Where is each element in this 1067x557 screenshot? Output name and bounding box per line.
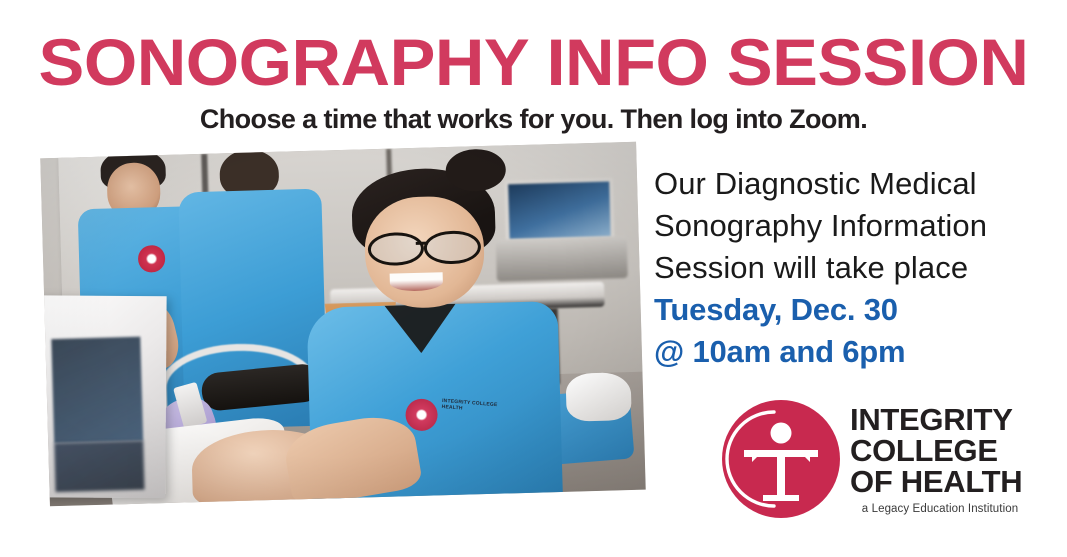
logo-wordmark: INTEGRITY COLLEGE OF HEALTH a Legacy Edu…	[850, 404, 1030, 516]
subtitle: Choose a time that works for you. Then l…	[0, 103, 1067, 135]
sonography-info-session-banner: SONOGRAPHY INFO SESSION Choose a time th…	[0, 0, 1067, 557]
description-line-2: Sonography Information	[654, 205, 1044, 247]
photo-vignette	[40, 142, 645, 507]
logo-name-line-3: OF HEALTH	[850, 466, 1030, 497]
event-date: Tuesday, Dec. 30	[654, 289, 1044, 331]
event-times: @ 10am and 6pm	[654, 331, 1044, 373]
event-description: Our Diagnostic Medical Sonography Inform…	[654, 163, 1044, 373]
sonography-lab-photo: INTEGRITY COLLEGE HEALTH	[40, 142, 645, 507]
integrity-college-of-health-logo: INTEGRITY COLLEGE OF HEALTH a Legacy Edu…	[722, 398, 1027, 528]
page-title: SONOGRAPHY INFO SESSION	[0, 28, 1067, 96]
logo-name-line-2: COLLEGE	[850, 435, 1030, 466]
logo-tagline: a Legacy Education Institution	[850, 502, 1030, 516]
logo-name-line-1: INTEGRITY	[850, 404, 1030, 435]
integrity-circle-icon	[722, 400, 840, 518]
description-line-3: Session will take place	[654, 247, 1044, 289]
description-line-1: Our Diagnostic Medical	[654, 163, 1044, 205]
